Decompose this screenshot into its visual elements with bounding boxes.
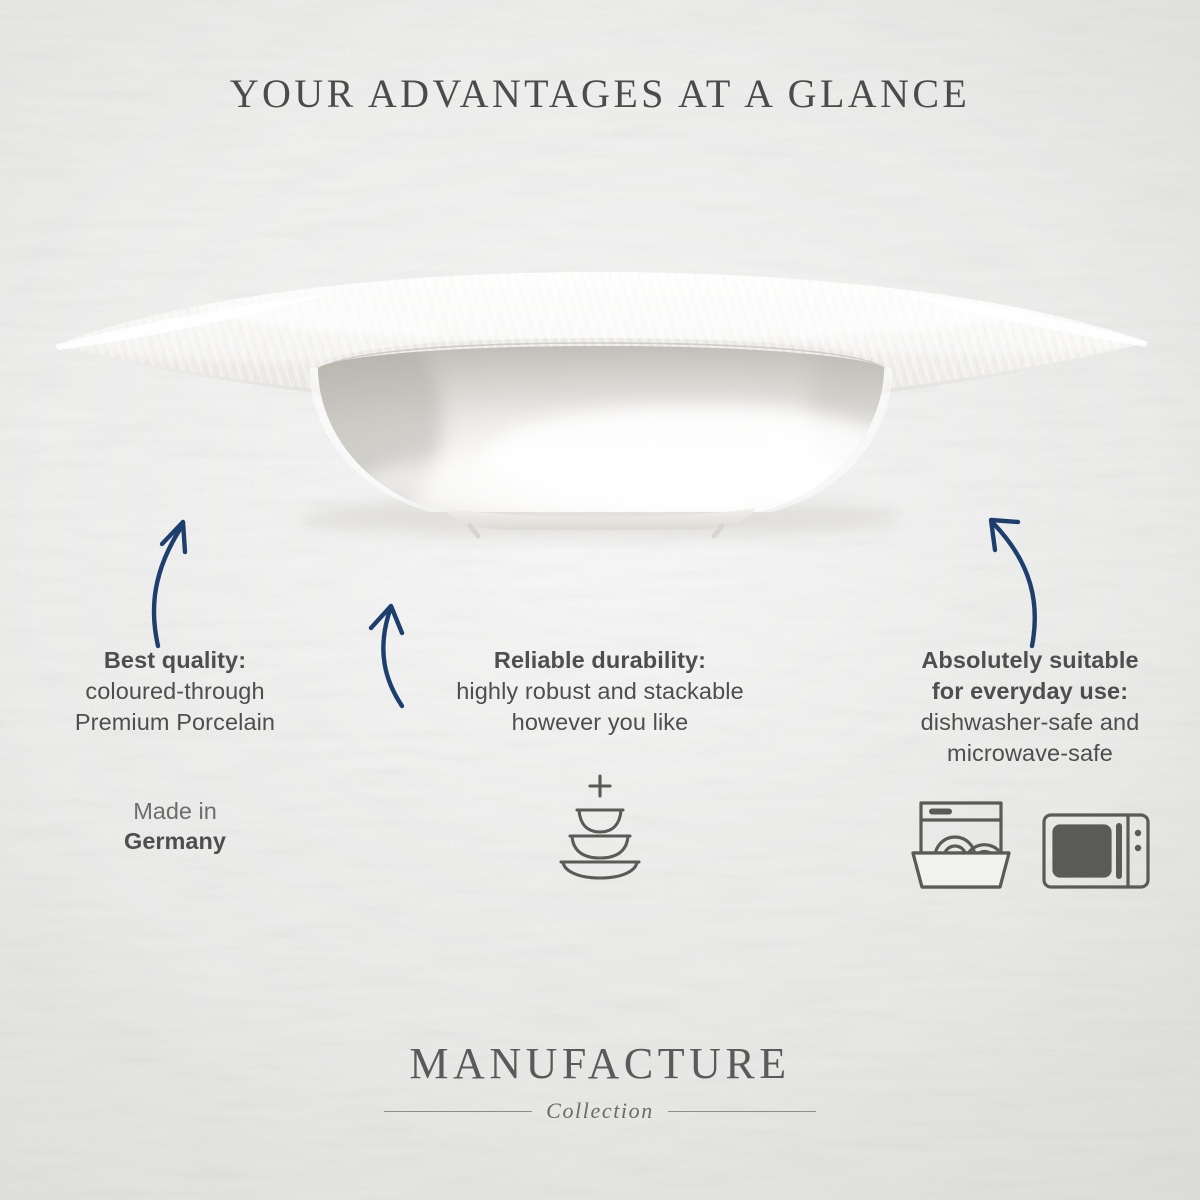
advantage-quality-line-2: Premium Porcelain xyxy=(75,709,275,735)
product-image-plate xyxy=(0,250,1200,550)
curved-arrow-up-left-icon xyxy=(968,500,1058,650)
brand-logo: MANUFACTURE Collection xyxy=(0,1038,1200,1124)
vignette-overlay xyxy=(0,0,1200,1200)
made-in-line-1: Made in xyxy=(133,798,217,824)
brand-logo-word: MANUFACTURE xyxy=(0,1038,1200,1089)
made-in-country: Germany xyxy=(124,828,226,854)
advantage-everyday-line-1: dishwasher-safe and xyxy=(921,709,1140,735)
microwave-safe-icon xyxy=(1040,809,1152,893)
advantage-everyday-heading-2: for everyday use: xyxy=(932,678,1128,704)
durability-icon-row xyxy=(390,770,810,882)
curved-arrow-up-right-icon xyxy=(140,500,220,650)
advantage-everyday-heading: Absolutely suitable xyxy=(921,647,1138,673)
page-title: YOUR ADVANTAGES AT A GLANCE xyxy=(0,70,1200,117)
advantage-everyday: Absolutely suitable for everyday use: di… xyxy=(865,645,1195,893)
paper-grain-texture xyxy=(0,0,1200,1200)
logo-rule-left xyxy=(384,1111,532,1112)
advantage-quality: Best quality: coloured-through Premium P… xyxy=(10,645,340,856)
advantage-durability: Reliable durability: highly robust and s… xyxy=(390,645,810,882)
advantage-durability-line-2: however you like xyxy=(512,709,689,735)
brand-logo-collection: Collection xyxy=(546,1098,654,1124)
logo-rule-right xyxy=(668,1111,816,1112)
brand-logo-subline: Collection xyxy=(0,1098,1200,1124)
made-in-label: Made in Germany xyxy=(10,796,340,856)
advantage-durability-heading: Reliable durability: xyxy=(494,647,706,673)
dishwasher-safe-icon xyxy=(908,795,1014,893)
stackable-bowls-icon xyxy=(552,770,648,882)
advantage-durability-line-1: highly robust and stackable xyxy=(456,678,744,704)
advantage-everyday-line-2: microwave-safe xyxy=(947,740,1113,766)
advantage-quality-heading: Best quality: xyxy=(104,647,246,673)
advantages-poster: YOUR ADVANTAGES AT A GLANCE xyxy=(0,0,1200,1200)
advantage-quality-line-1: coloured-through xyxy=(85,678,264,704)
everyday-icon-row xyxy=(865,795,1195,893)
